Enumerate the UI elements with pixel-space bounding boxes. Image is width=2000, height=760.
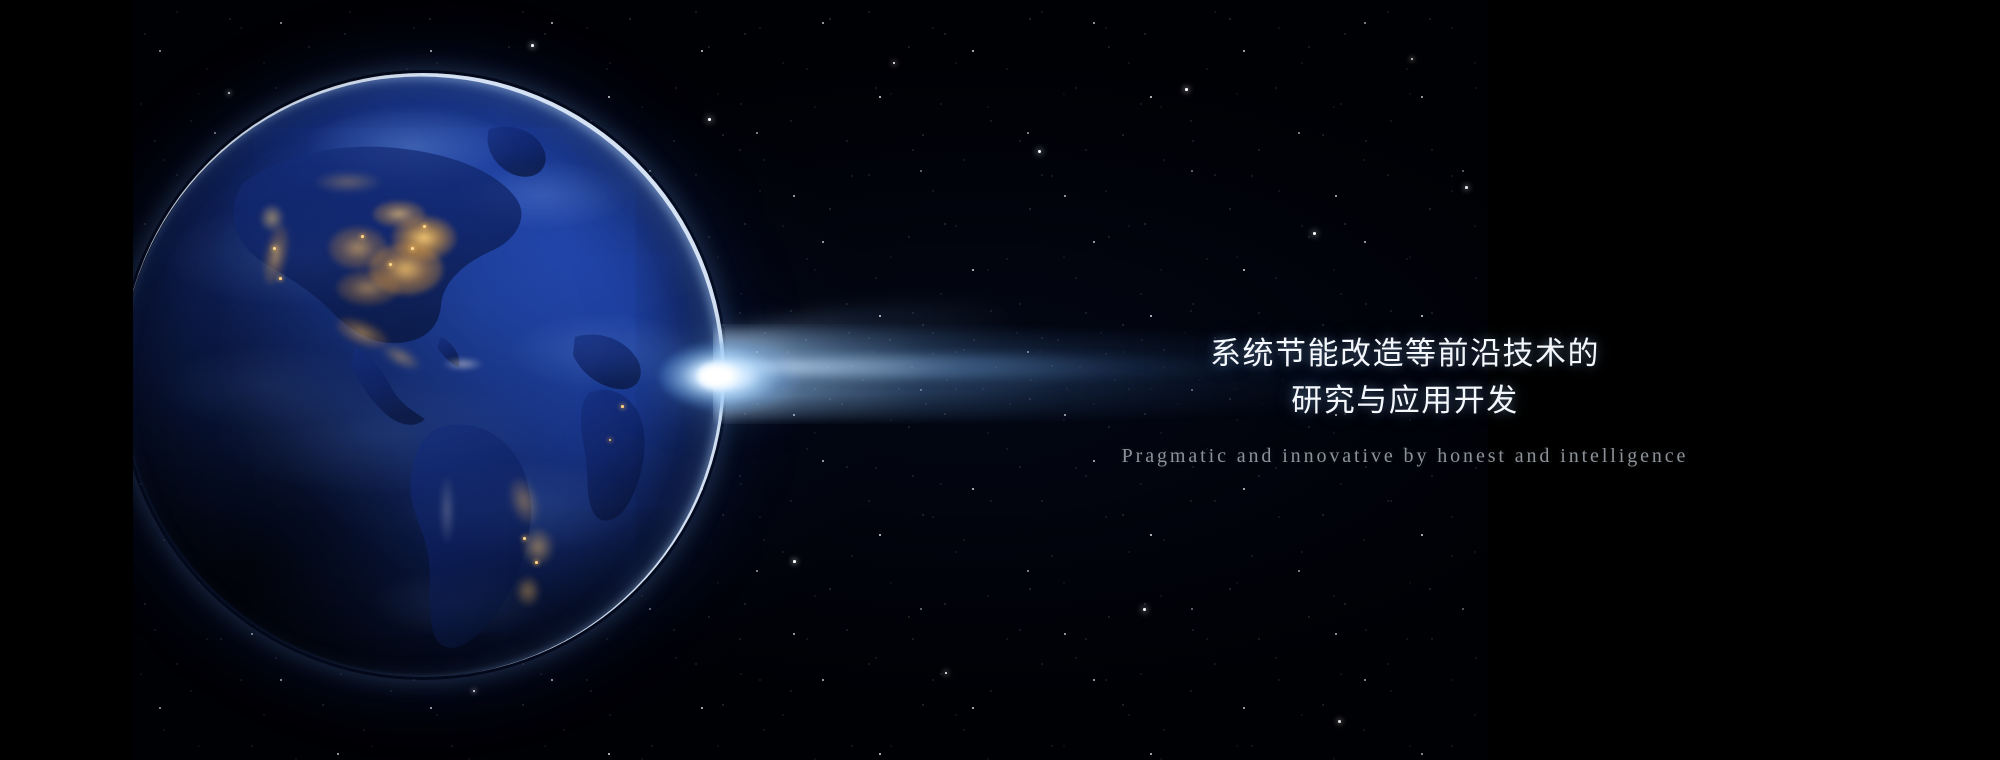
bright-star	[1185, 88, 1188, 91]
comet-tail-wing	[722, 295, 1025, 365]
bright-star	[793, 560, 796, 563]
comet-tail-core	[711, 356, 1271, 378]
hero-banner: 系统节能改造等前沿技术的 研究与应用开发 Pragmatic and innov…	[0, 0, 2000, 760]
bright-star	[473, 690, 475, 692]
earth-globe	[133, 75, 723, 675]
earth-sphere	[133, 75, 723, 675]
bright-star	[1143, 608, 1146, 611]
space-photo-panel	[133, 0, 1488, 760]
bright-star	[1038, 150, 1041, 153]
bright-star	[1338, 720, 1341, 723]
comet	[653, 300, 1488, 450]
bright-star	[945, 672, 947, 674]
comet-tail-grain	[713, 326, 1488, 422]
bright-star	[1411, 58, 1413, 60]
bright-star	[893, 62, 895, 64]
comet-tail	[713, 324, 1488, 424]
bright-star	[1465, 186, 1468, 189]
bright-star	[531, 44, 534, 47]
bright-star	[1313, 232, 1316, 235]
earth-continents	[133, 75, 723, 675]
